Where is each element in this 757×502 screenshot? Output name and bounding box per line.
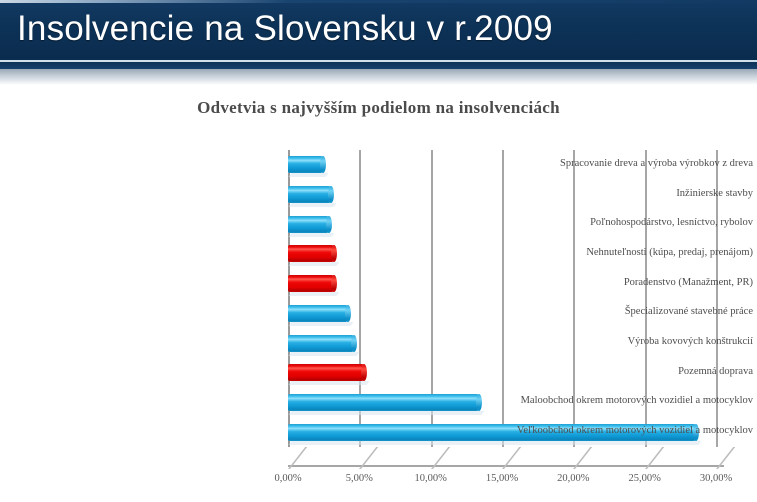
bar-shadow bbox=[288, 203, 336, 207]
bar bbox=[288, 245, 334, 262]
bar-end-cap bbox=[351, 335, 357, 352]
x-tick-label: 5,00% bbox=[324, 473, 394, 484]
bar-shadow bbox=[288, 381, 369, 385]
bar-end-cap bbox=[326, 216, 332, 233]
bar-end-cap bbox=[328, 186, 334, 203]
x-tick-label: 30,00% bbox=[681, 473, 751, 484]
bar-end-cap bbox=[320, 156, 326, 173]
bar-shadow bbox=[288, 352, 359, 356]
bar-shadow bbox=[288, 292, 339, 296]
axis-tick bbox=[716, 447, 735, 469]
bar bbox=[288, 156, 323, 173]
bar-shadow bbox=[288, 322, 353, 326]
bar-shadow bbox=[288, 411, 484, 415]
category-label: Poradenstvo (Manažment, PR) bbox=[473, 277, 757, 288]
category-label: Spracovanie dreva a výroba výrobkov z dr… bbox=[473, 158, 757, 169]
bar-shadow bbox=[288, 441, 701, 445]
chart-title: Odvetvia s najvyšším podielom na insolve… bbox=[0, 98, 757, 118]
bar-shadow bbox=[288, 173, 328, 177]
bar-shadow bbox=[288, 262, 339, 266]
bar bbox=[288, 394, 479, 411]
bar bbox=[288, 364, 364, 381]
bar-shadow bbox=[288, 233, 334, 237]
x-tick-label: 25,00% bbox=[610, 473, 680, 484]
bar bbox=[288, 305, 348, 322]
banner-divider-dark bbox=[0, 62, 757, 69]
x-tick-label: 20,00% bbox=[538, 473, 608, 484]
category-label: Inžinierske stavby bbox=[473, 188, 757, 199]
bar bbox=[288, 335, 354, 352]
x-tick-label: 10,00% bbox=[396, 473, 466, 484]
bar bbox=[288, 275, 334, 292]
banner-gradient-fade bbox=[0, 69, 757, 85]
category-label: Veľkoobchod okrem motorových vozidiel a … bbox=[473, 425, 757, 436]
page-title: Insolvencie na Slovensku v r.2009 bbox=[17, 5, 553, 53]
category-label: Špecializované stavebné práce bbox=[473, 306, 757, 317]
bar-end-cap bbox=[361, 364, 367, 381]
x-tick-label: 0,00% bbox=[253, 473, 323, 484]
category-label: Pozemná doprava bbox=[473, 366, 757, 377]
category-label: Nehnuteľnosti (kúpa, predaj, prenájom) bbox=[473, 247, 757, 258]
chart-container: Odvetvia s najvyšším podielom na insolve… bbox=[0, 85, 757, 502]
bar-end-cap bbox=[331, 245, 337, 262]
bar-end-cap bbox=[331, 275, 337, 292]
category-label: Maloobchod okrem motorových vozidiel a m… bbox=[473, 395, 757, 406]
banner-sheen bbox=[0, 0, 757, 3]
bar bbox=[288, 216, 329, 233]
x-tick-label: 15,00% bbox=[467, 473, 537, 484]
bar-end-cap bbox=[345, 305, 351, 322]
slide-title-banner: Insolvencie na Slovensku v r.2009 bbox=[0, 0, 757, 60]
bar bbox=[288, 186, 331, 203]
category-label: Výroba kovových konštrukcií bbox=[473, 336, 757, 347]
category-label: Poľnohospodárstvo, lesníctvo, rybolov bbox=[473, 217, 757, 228]
x-axis bbox=[288, 447, 736, 469]
